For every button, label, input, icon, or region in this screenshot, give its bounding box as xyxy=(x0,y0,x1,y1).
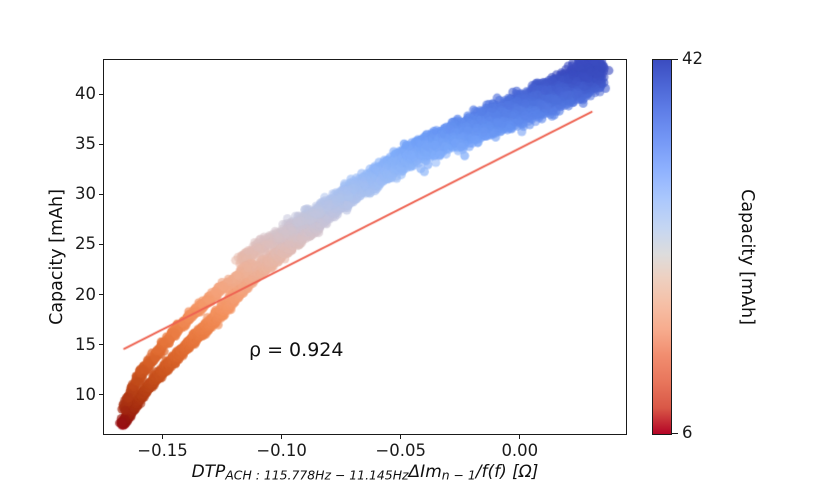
y-tick-mark xyxy=(99,394,103,395)
x-axis-label-main: DTP xyxy=(192,462,226,482)
y-tick-label: 15 xyxy=(75,337,96,354)
y-tick-label: 10 xyxy=(75,387,96,404)
colorbar-max-label: 42 xyxy=(682,51,703,68)
colorbar: 42 6 xyxy=(652,59,672,435)
colorbar-gradient xyxy=(652,59,672,435)
y-tick-mark xyxy=(99,294,103,295)
y-tick-label: 40 xyxy=(75,86,96,103)
colorbar-label: Capacity [mAh] xyxy=(737,137,757,377)
regression-line-layer xyxy=(104,60,626,434)
y-tick-label: 30 xyxy=(75,186,96,203)
y-tick-label: 25 xyxy=(75,236,96,253)
x-tick-mark xyxy=(400,435,401,439)
x-tick-label: −0.10 xyxy=(256,443,307,460)
x-tick-mark xyxy=(281,435,282,439)
x-tick-mark xyxy=(519,435,520,439)
y-tick-label: 20 xyxy=(75,287,96,304)
y-tick-mark xyxy=(99,194,103,195)
x-tick-mark xyxy=(162,435,163,439)
y-axis-label: Capacity [mAh] xyxy=(47,137,67,377)
x-axis-label-tail-subscript: n − 1 xyxy=(442,468,476,483)
y-tick-mark xyxy=(99,244,103,245)
plot-axes xyxy=(103,59,627,435)
x-tick-label: 0.00 xyxy=(501,443,538,460)
x-tick-label: −0.05 xyxy=(375,443,426,460)
y-tick-mark xyxy=(99,94,103,95)
scatter-plot-figure: 10152025303540 −0.15−0.10−0.050.00 Capac… xyxy=(0,0,830,498)
y-tick-mark xyxy=(99,344,103,345)
x-axis-label-subscript: ACH : 115.778Hz − 11.145Hz xyxy=(225,468,408,483)
colorbar-min-label: 6 xyxy=(682,425,693,442)
x-tick-label: −0.15 xyxy=(137,443,188,460)
x-axis-label-suffix: /f(f) [Ω] xyxy=(476,462,539,482)
y-tick-label: 35 xyxy=(75,136,96,153)
x-axis-label: DTPACH : 115.778Hz − 11.145HzΔImn − 1/f(… xyxy=(103,462,627,483)
colorbar-tick-max xyxy=(672,59,678,60)
correlation-annotation: ρ = 0.924 xyxy=(249,339,343,361)
x-axis-label-tail: ΔIm xyxy=(409,462,442,482)
y-tick-mark xyxy=(99,144,103,145)
colorbar-tick-min xyxy=(672,433,678,434)
